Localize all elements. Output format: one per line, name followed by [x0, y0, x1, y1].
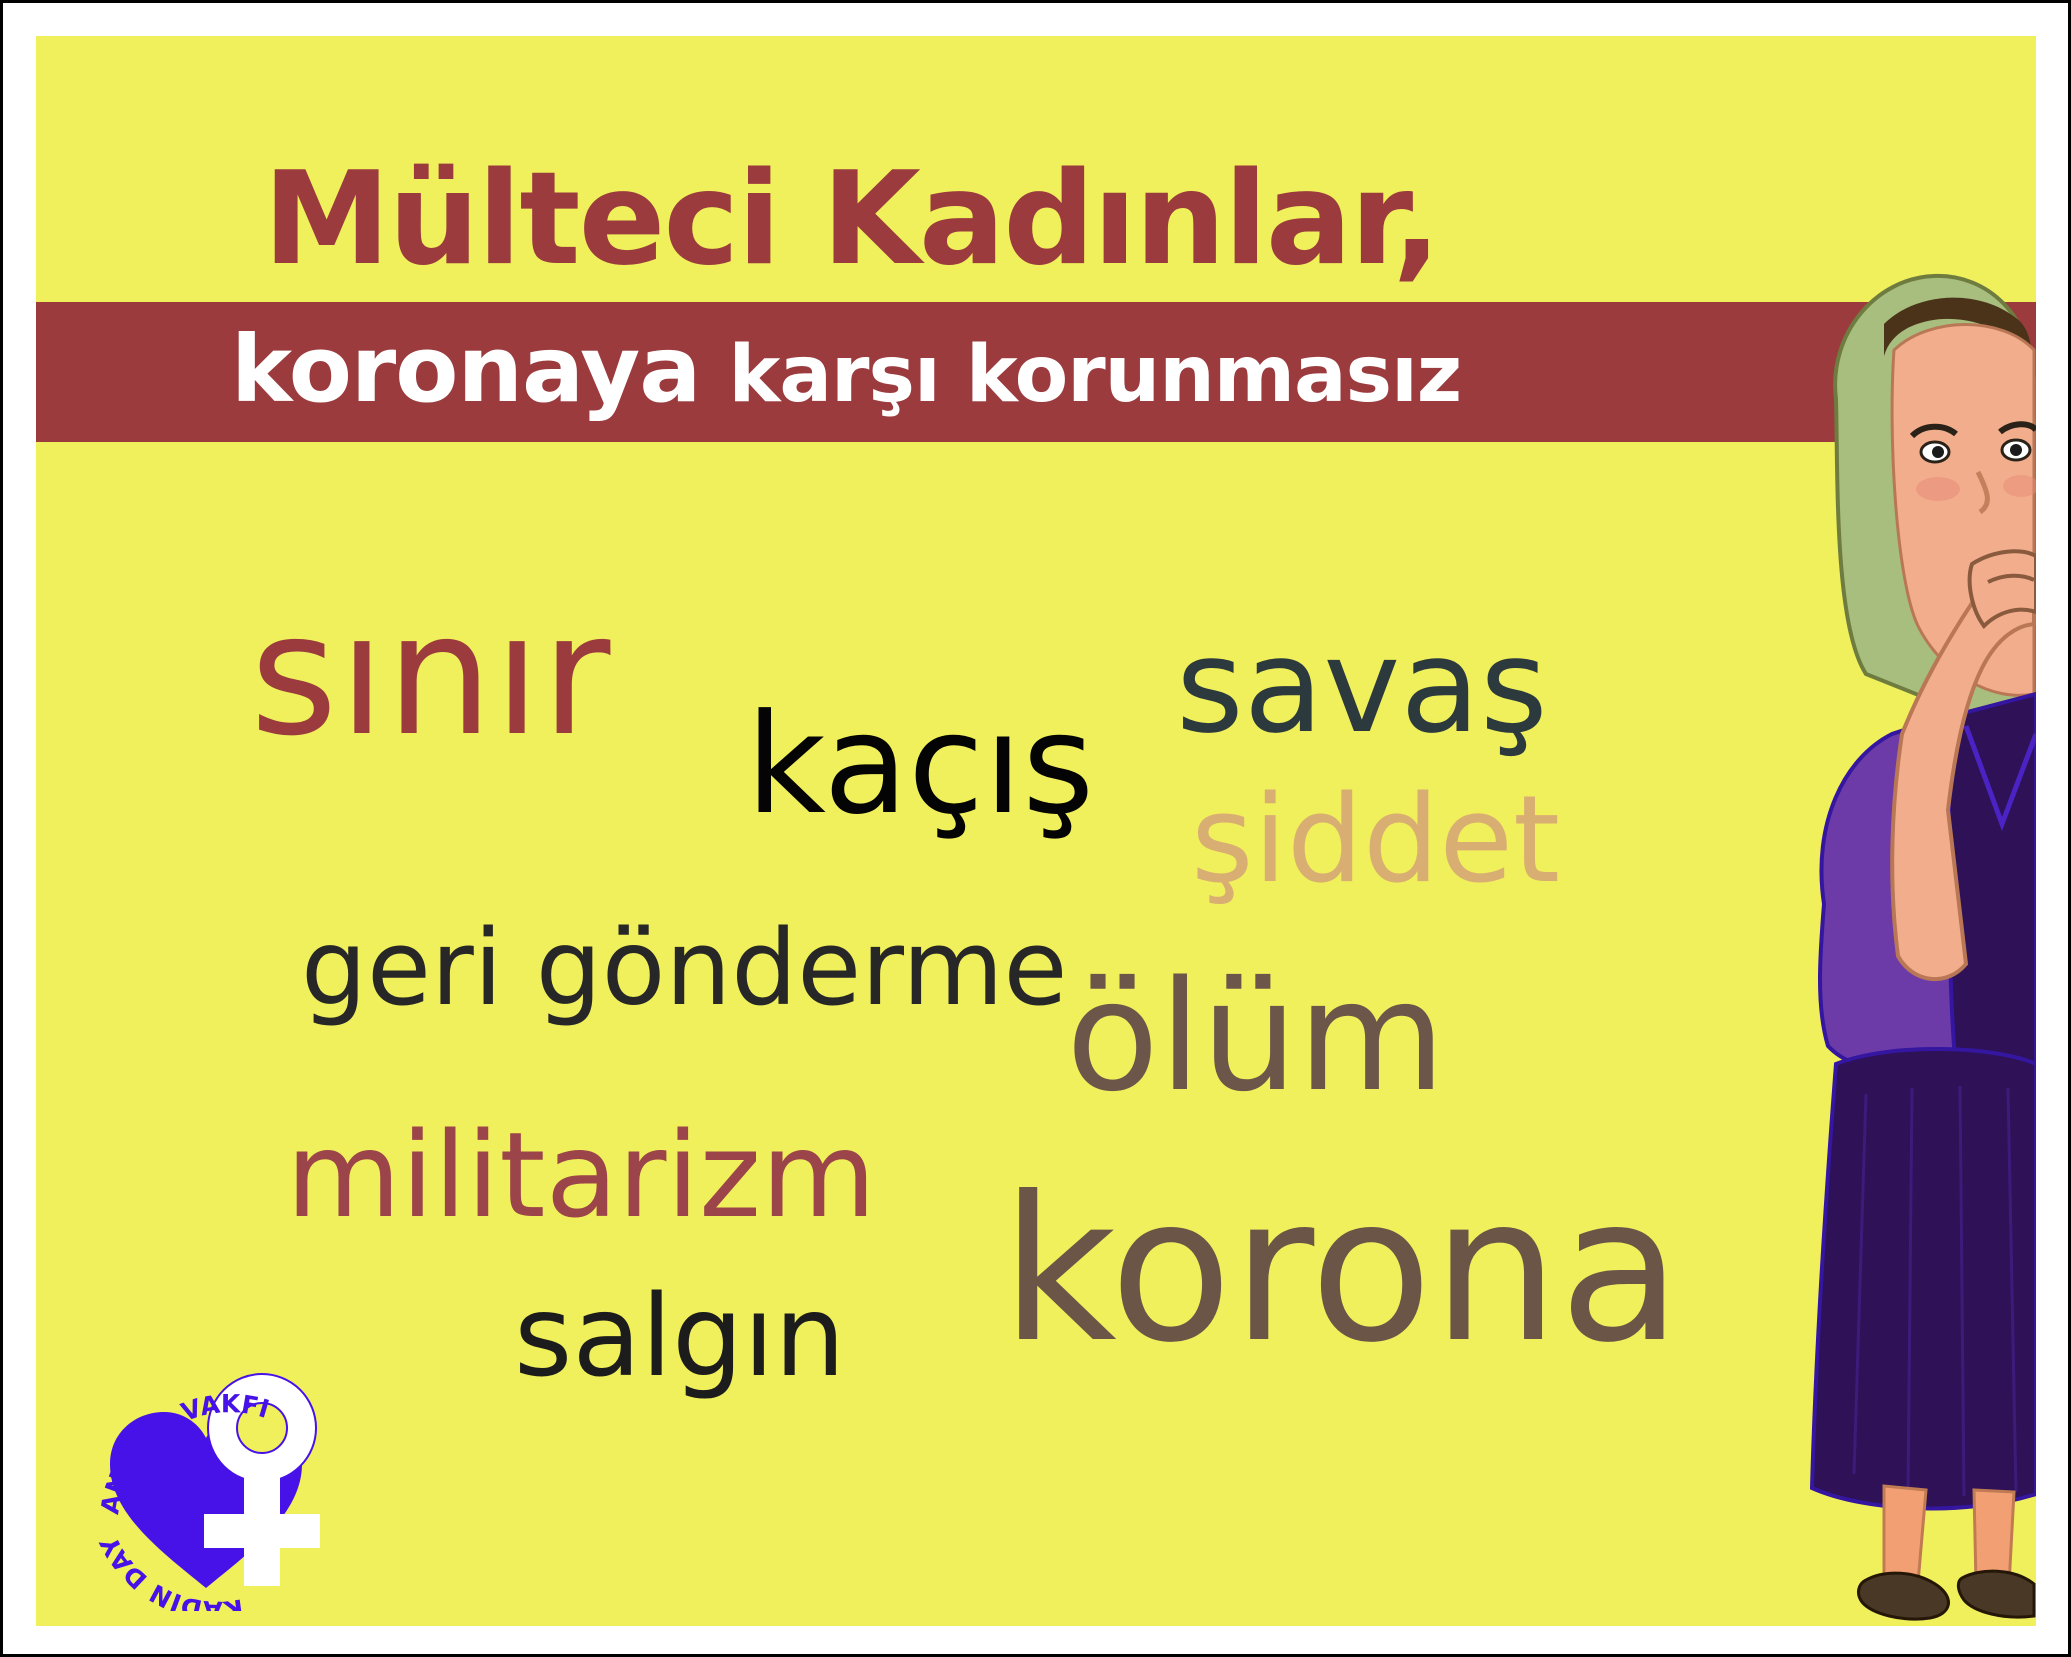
cloud-word-savas: savaş — [1176, 621, 1548, 751]
cloud-word-geri-gonderme: geri gönderme — [301, 916, 1068, 1020]
shoe-left — [1859, 1573, 1949, 1619]
cheek-blush-left — [1916, 477, 1960, 501]
shoe-right — [1958, 1571, 2034, 1617]
dress-bodice — [1949, 694, 2036, 1106]
venus-crossbar — [204, 1514, 320, 1548]
cloud-word-siddet: şiddet — [1191, 781, 1560, 901]
pupil-right — [2010, 444, 2022, 456]
poster-canvas: Mülteci Kadınlar, koronaya karşı korunma… — [36, 36, 2036, 1626]
pupil-left — [1932, 446, 1944, 458]
refugee-woman-illustration — [1716, 264, 2036, 1626]
cloud-word-militarizm: militarizm — [286, 1116, 876, 1234]
skirt — [1812, 1049, 2036, 1508]
cloud-word-korona: korona — [1001, 1171, 1682, 1371]
poster-page: Mülteci Kadınlar, koronaya karşı korunma… — [0, 0, 2071, 1657]
cloud-word-sinir: sınır — [250, 591, 611, 759]
cloud-word-salgin: salgın — [514, 1281, 845, 1393]
cloud-word-kacis: kaçış — [746, 696, 1094, 834]
kadin-dayanisma-vakfi-logo: ANIŞMA VAKFI KADIN DAY — [66, 1336, 346, 1611]
cloud-word-olum: ölüm — [1066, 961, 1446, 1113]
